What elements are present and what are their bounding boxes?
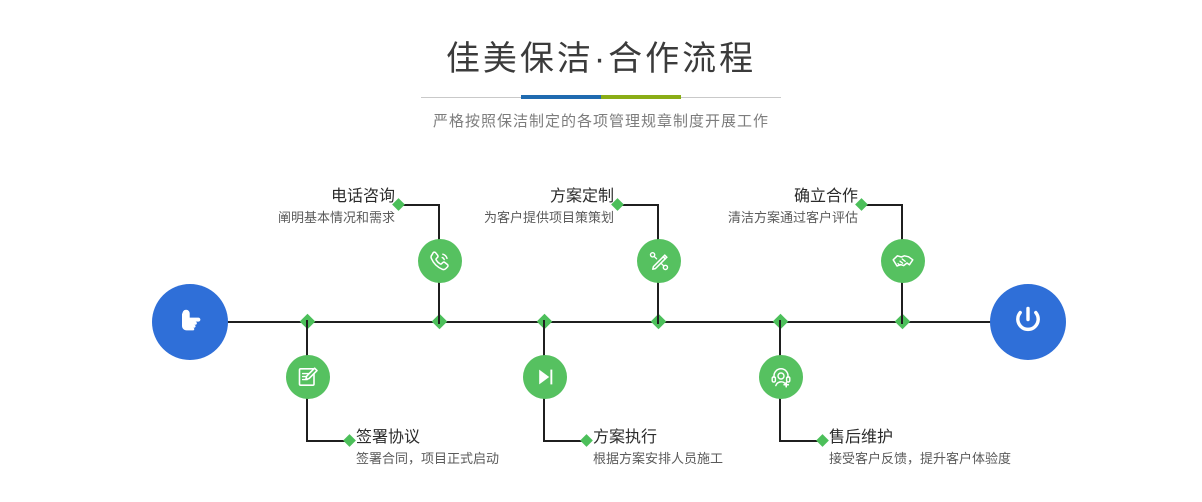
timeline: 电话咨询 阐明基本情况和需求 签署协议 签署合同，项目正式启动 <box>0 0 1202 502</box>
step-node-6[interactable] <box>759 355 803 399</box>
customer-service-add-icon <box>768 364 794 390</box>
step-node-2[interactable] <box>286 355 330 399</box>
timeline-end-node[interactable] <box>990 284 1066 360</box>
step-node-1[interactable] <box>418 239 462 283</box>
connector-horizontal-4 <box>543 440 585 442</box>
step-label-5: 确立合作 清洁方案通过客户评估 <box>518 186 858 228</box>
connector-horizontal-6 <box>779 440 821 442</box>
connector-tip-2 <box>343 434 356 447</box>
play-skip-icon <box>532 364 558 390</box>
phone-call-icon <box>427 248 453 274</box>
timeline-start-node[interactable] <box>152 284 228 360</box>
flow-diagram-page: 佳美保洁·合作流程 严格按照保洁制定的各项管理规章制度开展工作 <box>0 0 1202 502</box>
step-desc-5: 清洁方案通过客户评估 <box>518 208 858 228</box>
connector-horizontal-2 <box>306 440 348 442</box>
step-node-3[interactable] <box>637 239 681 283</box>
document-edit-icon <box>295 364 321 390</box>
step-title-6: 售后维护 <box>829 427 1189 449</box>
step-node-4[interactable] <box>523 355 567 399</box>
step-title-5: 确立合作 <box>518 186 858 208</box>
pencil-design-icon <box>646 248 672 274</box>
pointing-hand-icon <box>170 302 210 342</box>
power-icon <box>1007 301 1049 343</box>
handshake-icon <box>890 248 916 274</box>
step-desc-6: 接受客户反馈，提升客户体验度 <box>829 449 1189 469</box>
step-label-6: 售后维护 接受客户反馈，提升客户体验度 <box>829 427 1189 469</box>
step-node-5[interactable] <box>881 239 925 283</box>
